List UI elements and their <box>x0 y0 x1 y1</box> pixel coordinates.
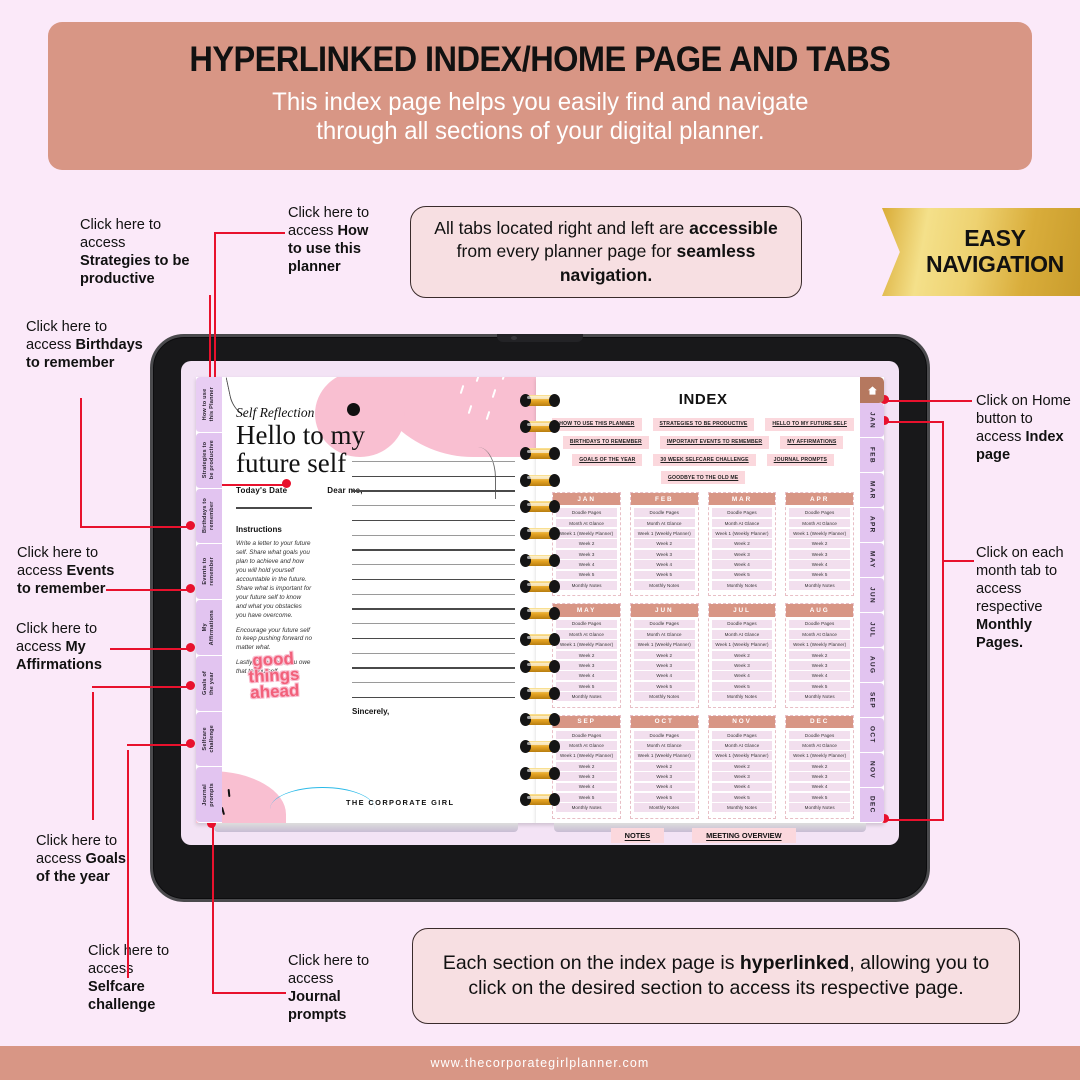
spiral-ring <box>523 421 557 432</box>
todays-date-label: Today's Date <box>236 486 287 495</box>
instructions-paragraph-1: Write a letter to your future self. Shar… <box>236 540 312 620</box>
month-card-jun[interactable]: JUNDoodle PagesMonth At GlanceWeek 1 (We… <box>630 603 699 707</box>
easy-navigation-ribbon: EASYNAVIGATION <box>882 208 1080 296</box>
month-card-header: APR <box>786 493 853 505</box>
leader-home-h <box>884 400 972 402</box>
spiral-ring <box>523 501 557 512</box>
month-item[interactable]: Week 1 (Weekly Planner) <box>634 751 695 760</box>
month-item[interactable]: Week 3 <box>556 772 617 781</box>
month-item[interactable]: Monthly Notes <box>556 581 617 590</box>
spiral-ring <box>523 634 557 645</box>
month-item[interactable]: Week 5 <box>712 682 773 691</box>
month-item[interactable]: Week 1 (Weekly Planner) <box>712 640 773 649</box>
left-tab-label: How to use this Planner <box>202 387 216 421</box>
month-card-header: MAR <box>709 493 776 505</box>
month-item[interactable]: Week 3 <box>634 772 695 781</box>
month-item[interactable]: Week 2 <box>789 539 850 548</box>
month-item[interactable]: Week 1 (Weekly Planner) <box>556 529 617 538</box>
leader-selfcare-v <box>127 750 129 978</box>
annotation-selfcare: Click here to access Selfcare challenge <box>88 942 184 1014</box>
spiral-ring <box>523 581 557 592</box>
month-item[interactable]: Week 5 <box>712 571 773 580</box>
leader-months-top-h <box>886 421 944 423</box>
index-link-row: GOALS OF THE YEAR30 WEEK SELFCARE CHALLE… <box>552 454 854 467</box>
leader-months-bot-h <box>886 819 944 821</box>
month-item[interactable]: Week 1 (Weekly Planner) <box>712 751 773 760</box>
month-item[interactable]: Month At Glance <box>789 741 850 750</box>
leader-goals-h <box>92 686 190 688</box>
month-card-nov[interactable]: NOVDoodle PagesMonth At GlanceWeek 1 (We… <box>708 715 777 819</box>
spiral-ring <box>523 714 557 725</box>
month-item[interactable]: Week 1 (Weekly Planner) <box>634 529 695 538</box>
index-page: INDEX HOW TO USE THIS PLANNERSTRATEGIES … <box>536 377 884 823</box>
month-item[interactable]: Week 5 <box>789 571 850 580</box>
left-tab-6[interactable]: Selfcare challenge <box>196 712 222 768</box>
letter-writing-lines[interactable] <box>352 461 515 712</box>
index-link-birthdays-to-remember[interactable]: BIRTHDAYS TO REMEMBER <box>563 436 649 449</box>
month-tab-sep[interactable]: SEP <box>860 683 884 718</box>
month-item[interactable]: Week 4 <box>789 560 850 569</box>
month-tab-nov[interactable]: NOV <box>860 753 884 788</box>
tabs-info-callout: All tabs located right and left are acce… <box>410 206 802 298</box>
home-icon <box>867 385 878 396</box>
leader-affirmations-h <box>110 648 190 650</box>
annotation-birthdays: Click here to access Birthdays to rememb… <box>26 318 146 372</box>
header-subtitle-line1: This index page helps you easily find an… <box>272 88 808 117</box>
month-item[interactable]: Monthly Notes <box>556 803 617 812</box>
month-card-feb[interactable]: FEBDoodle PagesMonth At GlanceWeek 1 (We… <box>630 492 699 596</box>
month-tab-label: JAN <box>869 412 876 429</box>
month-item[interactable]: Week 1 (Weekly Planner) <box>556 751 617 760</box>
month-card-header: DEC <box>786 716 853 728</box>
month-item[interactable]: Week 3 <box>556 550 617 559</box>
month-item[interactable]: Doodle Pages <box>634 508 695 517</box>
index-link-my-affirmations[interactable]: MY AFFIRMATIONS <box>780 436 843 449</box>
month-card-mar[interactable]: MARDoodle PagesMonth At GlanceWeek 1 (We… <box>708 492 777 596</box>
spiral-ring <box>523 395 557 406</box>
annotation-how-to-use: Click here to access How to use this pla… <box>288 204 380 276</box>
tabs-info-text: All tabs located right and left are acce… <box>425 217 787 287</box>
month-tab-label: FEB <box>869 447 876 464</box>
spiral-ring <box>523 768 557 779</box>
month-card-jan[interactable]: JANDoodle PagesMonth At GlanceWeek 1 (We… <box>552 492 621 596</box>
month-item[interactable]: Month At Glance <box>556 519 617 528</box>
index-link-meeting-overview[interactable]: MEETING OVERVIEW <box>692 828 795 843</box>
month-item[interactable]: Doodle Pages <box>789 508 850 517</box>
leader-dot-strategies <box>282 479 291 488</box>
month-card-header: JUN <box>631 604 698 616</box>
month-item[interactable]: Week 5 <box>634 571 695 580</box>
month-item[interactable]: Week 1 (Weekly Planner) <box>712 529 773 538</box>
month-item[interactable]: Month At Glance <box>712 519 773 528</box>
spiral-ring <box>523 448 557 459</box>
month-card-header: FEB <box>631 493 698 505</box>
month-tab-jul[interactable]: JUL <box>860 613 884 648</box>
month-item[interactable]: Week 5 <box>556 571 617 580</box>
month-item[interactable]: Week 3 <box>712 772 773 781</box>
month-item[interactable]: Week 3 <box>634 661 695 670</box>
month-item[interactable]: Monthly Notes <box>712 803 773 812</box>
month-item[interactable]: Week 2 <box>634 762 695 771</box>
month-tab-oct[interactable]: OCT <box>860 718 884 753</box>
month-item[interactable]: Doodle Pages <box>712 620 773 629</box>
month-tab-mar[interactable]: MAR <box>860 473 884 508</box>
month-item[interactable]: Monthly Notes <box>789 692 850 701</box>
spiral-ring <box>523 741 557 752</box>
left-tab-label: Birthdays to remember <box>202 498 216 533</box>
ribbon-label: EASYNAVIGATION <box>898 226 1064 278</box>
month-card-sep[interactable]: SEPDoodle PagesMonth At GlanceWeek 1 (We… <box>552 715 621 819</box>
hyperlink-info-text: Each section on the index page is hyperl… <box>431 951 1001 1002</box>
month-item[interactable]: Week 4 <box>789 783 850 792</box>
spiral-ring <box>523 688 557 699</box>
month-item[interactable]: Doodle Pages <box>556 620 617 629</box>
month-item[interactable]: Week 2 <box>634 539 695 548</box>
page-shadow-left <box>214 823 518 832</box>
month-item[interactable]: Week 4 <box>556 783 617 792</box>
month-tab-may[interactable]: MAY <box>860 543 884 578</box>
left-tab-label: Goals of the year <box>202 671 216 695</box>
month-item[interactable]: Week 5 <box>634 682 695 691</box>
month-item[interactable]: Week 2 <box>556 539 617 548</box>
tablet-camera-notch <box>497 334 583 342</box>
month-item[interactable]: Month At Glance <box>634 519 695 528</box>
month-item[interactable]: Monthly Notes <box>712 692 773 701</box>
leader-events-h <box>106 589 190 591</box>
month-card-oct[interactable]: OCTDoodle PagesMonth At GlanceWeek 1 (We… <box>630 715 699 819</box>
left-tab-label: Strategies to be productive <box>202 440 216 479</box>
month-item[interactable]: Week 2 <box>712 539 773 548</box>
tablet-device: How to use this PlannerStrategies to be … <box>150 334 930 902</box>
month-item[interactable]: Week 5 <box>789 682 850 691</box>
leader-goals-v <box>92 692 94 820</box>
heading-line-1: Hello to my <box>236 422 490 450</box>
month-item[interactable]: Week 2 <box>789 651 850 660</box>
month-item[interactable]: Monthly Notes <box>712 581 773 590</box>
self-reflection-label: Self Reflection <box>236 405 490 421</box>
month-tab-jun[interactable]: JUN <box>860 578 884 613</box>
month-card-header: AUG <box>786 604 853 616</box>
left-tab-7[interactable]: Journal prompts <box>196 767 222 823</box>
month-item[interactable]: Doodle Pages <box>789 620 850 629</box>
month-item[interactable]: Week 2 <box>556 651 617 660</box>
month-item[interactable]: Week 2 <box>712 651 773 660</box>
spiral-binding <box>521 377 559 823</box>
leader-dot-selfcare <box>186 739 195 748</box>
month-item[interactable]: Monthly Notes <box>789 803 850 812</box>
month-item[interactable]: Week 5 <box>556 793 617 802</box>
month-item[interactable]: Week 5 <box>712 793 773 802</box>
planner-right-page: JANFEBMARAPRMAYJUNJULAUGSEPOCTNOVDEC IND… <box>536 377 884 823</box>
header-subtitle: This index page helps you easily find an… <box>272 88 808 146</box>
month-card-may[interactable]: MAYDoodle PagesMonth At GlanceWeek 1 (We… <box>552 603 621 707</box>
index-link-important-events-to-remember[interactable]: IMPORTANT EVENTS TO REMEMBER <box>660 436 769 449</box>
month-item[interactable]: Week 4 <box>634 671 695 680</box>
page-title: HYPERLINKED INDEX/HOME PAGE AND TABS <box>190 42 891 79</box>
month-tab-jan[interactable]: JAN <box>860 403 884 438</box>
leader-birthdays-v <box>80 398 82 528</box>
spiral-ring <box>523 528 557 539</box>
index-link-strategies-to-be-productive[interactable]: STRATEGIES TO BE PRODUCTIVE <box>653 418 755 431</box>
month-card-apr[interactable]: APRDoodle PagesMonth At GlanceWeek 1 (We… <box>785 492 854 596</box>
month-item[interactable]: Week 3 <box>556 661 617 670</box>
index-link-journal-prompts[interactable]: JOURNAL PROMPTS <box>767 454 834 467</box>
month-item[interactable]: Monthly Notes <box>789 581 850 590</box>
month-tab-label: MAR <box>869 481 876 500</box>
month-item[interactable]: Week 3 <box>712 661 773 670</box>
index-link-30-week-selfcare-challenge[interactable]: 30 WEEK SELFCARE CHALLENGE <box>653 454 755 467</box>
left-tab-1[interactable]: Strategies to be productive <box>196 433 222 489</box>
left-tab-label: Selfcare challenge <box>202 725 216 753</box>
right-tab-strip[interactable]: JANFEBMARAPRMAYJUNJULAUGSEPOCTNOVDEC <box>860 377 884 823</box>
month-tab-label: NOV <box>869 761 876 779</box>
planner-left-page: How to use this PlannerStrategies to be … <box>196 377 536 823</box>
leader-months-mid-h <box>942 560 974 562</box>
annotation-home: Click on Home button to access Index pag… <box>976 392 1074 464</box>
month-item[interactable]: Week 4 <box>634 560 695 569</box>
spiral-ring <box>523 661 557 672</box>
month-item[interactable]: Week 1 (Weekly Planner) <box>789 640 850 649</box>
month-tab-label: JUN <box>869 587 876 604</box>
leader-dot-birthdays <box>186 521 195 530</box>
index-link-notes[interactable]: NOTES <box>611 828 664 843</box>
leader-howto-h <box>214 232 285 234</box>
index-link-how-to-use-this-planner[interactable]: HOW TO USE THIS PLANNER <box>552 418 641 431</box>
left-tab-label: Journal prompts <box>202 783 216 807</box>
month-item[interactable]: Month At Glance <box>789 519 850 528</box>
month-item[interactable]: Week 1 (Weekly Planner) <box>634 640 695 649</box>
sticker-line-3: ahead <box>236 682 313 702</box>
date-write-line[interactable] <box>236 507 312 509</box>
month-card-header: OCT <box>631 716 698 728</box>
annotation-months: Click on each month tab to access respec… <box>976 544 1076 653</box>
month-item[interactable]: Doodle Pages <box>712 731 773 740</box>
month-item[interactable]: Week 5 <box>789 793 850 802</box>
month-item[interactable]: Doodle Pages <box>556 508 617 517</box>
header-banner: HYPERLINKED INDEX/HOME PAGE AND TABS Thi… <box>48 22 1032 170</box>
month-card-header: JUL <box>709 604 776 616</box>
month-item[interactable]: Week 3 <box>712 550 773 559</box>
month-item[interactable]: Month At Glance <box>634 630 695 639</box>
annotation-journal: Click here to access Journal prompts <box>288 952 380 1024</box>
left-tab-2[interactable]: Birthdays to remember <box>196 489 222 545</box>
spiral-ring <box>523 475 557 486</box>
brand-label: THE CORPORATE GIRL <box>346 798 454 807</box>
month-tab-label: OCT <box>869 726 876 744</box>
index-link-goals-of-the-year[interactable]: GOALS OF THE YEAR <box>572 454 642 467</box>
month-item[interactable]: Week 4 <box>712 560 773 569</box>
month-card-dec[interactable]: DECDoodle PagesMonth At GlanceWeek 1 (We… <box>785 715 854 819</box>
month-item[interactable]: Week 5 <box>556 682 617 691</box>
month-item[interactable]: Week 3 <box>789 550 850 559</box>
leader-months-v <box>942 421 944 821</box>
leader-journal-v <box>212 824 214 994</box>
left-tab-3[interactable]: Events to remember <box>196 544 222 600</box>
month-item[interactable]: Week 1 (Weekly Planner) <box>556 640 617 649</box>
month-tab-label: SEP <box>869 692 876 709</box>
month-item[interactable]: Month At Glance <box>634 741 695 750</box>
month-item[interactable]: Month At Glance <box>712 741 773 750</box>
month-tab-label: AUG <box>869 656 876 674</box>
month-item[interactable]: Week 3 <box>789 772 850 781</box>
index-title: INDEX <box>552 391 854 408</box>
footer-url: www.thecorporategirlplanner.com <box>431 1056 650 1070</box>
month-item[interactable]: Week 4 <box>634 783 695 792</box>
month-card-jul[interactable]: JULDoodle PagesMonth At GlanceWeek 1 (We… <box>708 603 777 707</box>
leader-birthdays-h <box>80 526 190 528</box>
month-tab-label: DEC <box>869 796 876 814</box>
month-tab-label: APR <box>869 516 876 534</box>
month-item[interactable]: Monthly Notes <box>634 581 695 590</box>
month-tab-dec[interactable]: DEC <box>860 788 884 823</box>
month-item[interactable]: Doodle Pages <box>634 620 695 629</box>
month-item[interactable]: Week 4 <box>789 671 850 680</box>
self-reflection-page: Self Reflection Hello to my future self … <box>196 377 536 823</box>
index-bottom-links[interactable]: NOTESMEETING OVERVIEW <box>552 828 854 843</box>
month-item[interactable]: Week 4 <box>712 671 773 680</box>
month-card-header: JAN <box>553 493 620 505</box>
left-tab-5[interactable]: Goals of the year <box>196 656 222 712</box>
index-link-hello-to-my-future-self[interactable]: HELLO TO MY FUTURE SELF <box>765 418 854 431</box>
tablet-screen: How to use this PlannerStrategies to be … <box>181 361 899 845</box>
index-month-grid[interactable]: JANDoodle PagesMonth At GlanceWeek 1 (We… <box>552 492 854 819</box>
month-item[interactable]: Week 5 <box>634 793 695 802</box>
sincerely-label: Sincerely, <box>352 707 389 716</box>
left-tab-label: My Affirmations <box>202 610 216 645</box>
home-button-tab[interactable] <box>860 377 884 403</box>
month-item[interactable]: Monthly Notes <box>556 692 617 701</box>
month-card-aug[interactable]: AUGDoodle PagesMonth At GlanceWeek 1 (We… <box>785 603 854 707</box>
left-tab-strip[interactable]: How to use this PlannerStrategies to be … <box>196 377 222 823</box>
month-item[interactable]: Week 3 <box>634 550 695 559</box>
month-tab-label: JUL <box>869 622 876 638</box>
leader-dot-goals <box>186 681 195 690</box>
month-tab-apr[interactable]: APR <box>860 508 884 543</box>
leader-howto-v <box>214 232 216 397</box>
left-tab-label: Events to remember <box>202 557 216 586</box>
month-item[interactable]: Week 4 <box>712 783 773 792</box>
month-item[interactable]: Monthly Notes <box>634 692 695 701</box>
month-item[interactable]: Monthly Notes <box>634 803 695 812</box>
annotation-strategies: Click here to access Strategies to be pr… <box>80 216 200 288</box>
leader-selfcare-h <box>127 744 190 746</box>
leader-dot-events <box>186 584 195 593</box>
month-item[interactable]: Week 2 <box>789 762 850 771</box>
spiral-ring <box>523 555 557 566</box>
month-item[interactable]: Week 2 <box>634 651 695 660</box>
index-link-row: GOODBYE TO THE OLD ME <box>552 471 854 484</box>
month-item[interactable]: Week 1 (Weekly Planner) <box>789 751 850 760</box>
index-link-row: BIRTHDAYS TO REMEMBERIMPORTANT EVENTS TO… <box>552 436 854 449</box>
leader-journal-h <box>212 992 286 994</box>
month-item[interactable]: Week 4 <box>556 671 617 680</box>
annotation-goals: Click here to access Goals of the year <box>36 832 132 886</box>
month-item[interactable]: Week 1 (Weekly Planner) <box>789 529 850 538</box>
month-item[interactable]: Month At Glance <box>556 630 617 639</box>
left-tab-4[interactable]: My Affirmations <box>196 600 222 656</box>
month-item[interactable]: Week 4 <box>556 560 617 569</box>
month-item[interactable]: Week 2 <box>556 762 617 771</box>
month-item[interactable]: Week 3 <box>789 661 850 670</box>
month-card-header: NOV <box>709 716 776 728</box>
planner-spread: How to use this PlannerStrategies to be … <box>196 377 884 823</box>
month-item[interactable]: Doodle Pages <box>712 508 773 517</box>
month-item[interactable]: Doodle Pages <box>556 731 617 740</box>
month-card-header: MAY <box>553 604 620 616</box>
index-link-rows[interactable]: HOW TO USE THIS PLANNERSTRATEGIES TO BE … <box>552 418 854 484</box>
spiral-ring <box>523 794 557 805</box>
month-tab-feb[interactable]: FEB <box>860 438 884 473</box>
footer-bar: www.thecorporategirlplanner.com <box>0 1046 1080 1080</box>
leader-dot-affirmations <box>186 643 195 652</box>
header-subtitle-line2: through all sections of your digital pla… <box>272 117 808 146</box>
index-link-goodbye-to-the-old-me[interactable]: GOODBYE TO THE OLD ME <box>661 471 745 484</box>
month-item[interactable]: Month At Glance <box>712 630 773 639</box>
index-link-row: HOW TO USE THIS PLANNERSTRATEGIES TO BE … <box>552 418 854 431</box>
month-tab-label: MAY <box>869 551 876 569</box>
month-tab-aug[interactable]: AUG <box>860 648 884 683</box>
month-card-header: SEP <box>553 716 620 728</box>
hyperlink-info-callout: Each section on the index page is hyperl… <box>412 928 1020 1024</box>
month-item[interactable]: Doodle Pages <box>634 731 695 740</box>
month-item[interactable]: Month At Glance <box>789 630 850 639</box>
spiral-ring <box>523 608 557 619</box>
month-item[interactable]: Month At Glance <box>556 741 617 750</box>
left-tab-0[interactable]: How to use this Planner <box>196 377 222 433</box>
good-things-ahead-sticker: good things ahead <box>235 650 313 702</box>
month-item[interactable]: Doodle Pages <box>789 731 850 740</box>
month-item[interactable]: Week 2 <box>712 762 773 771</box>
